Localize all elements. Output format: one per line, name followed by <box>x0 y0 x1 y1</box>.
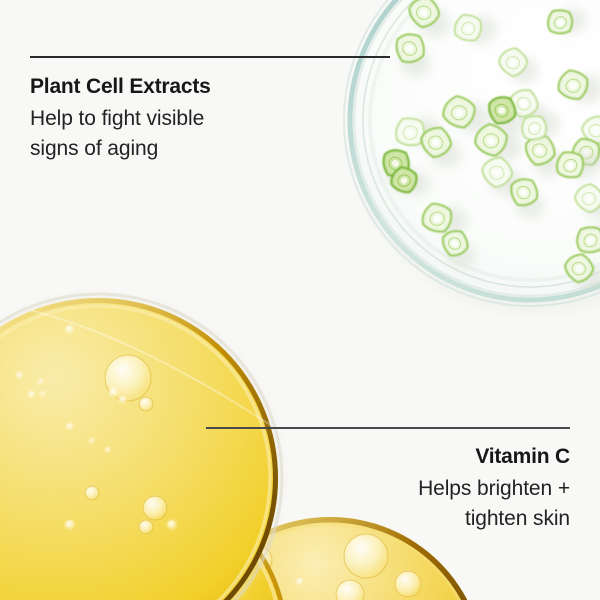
petri-dish-yellow-lower-left <box>0 480 288 600</box>
panel-plant-cell-extracts: Plant Cell Extracts Help to fight visibl… <box>30 74 211 164</box>
panel-vitamin-c: Vitamin C Helps brighten + tighten skin <box>418 444 570 534</box>
panel-body-line-2: signs of aging <box>30 134 211 164</box>
panel-heading-plant-cell-extracts: Plant Cell Extracts <box>30 74 211 100</box>
divider-top <box>30 56 390 58</box>
petri-dish-yellow-large <box>0 294 282 600</box>
ingredient-benefits-graphic: Plant Cell Extracts Help to fight visibl… <box>0 0 600 600</box>
plant-cell-slices <box>372 0 600 294</box>
divider-bottom <box>206 427 570 429</box>
panel-body-line-2: tighten skin <box>418 504 570 534</box>
petri-dish-green <box>344 0 600 314</box>
panel-heading-vitamin-c: Vitamin C <box>418 444 570 470</box>
panel-body-line-1: Help to fight visible <box>30 104 211 134</box>
panel-body-line-1: Helps brighten + <box>418 474 570 504</box>
